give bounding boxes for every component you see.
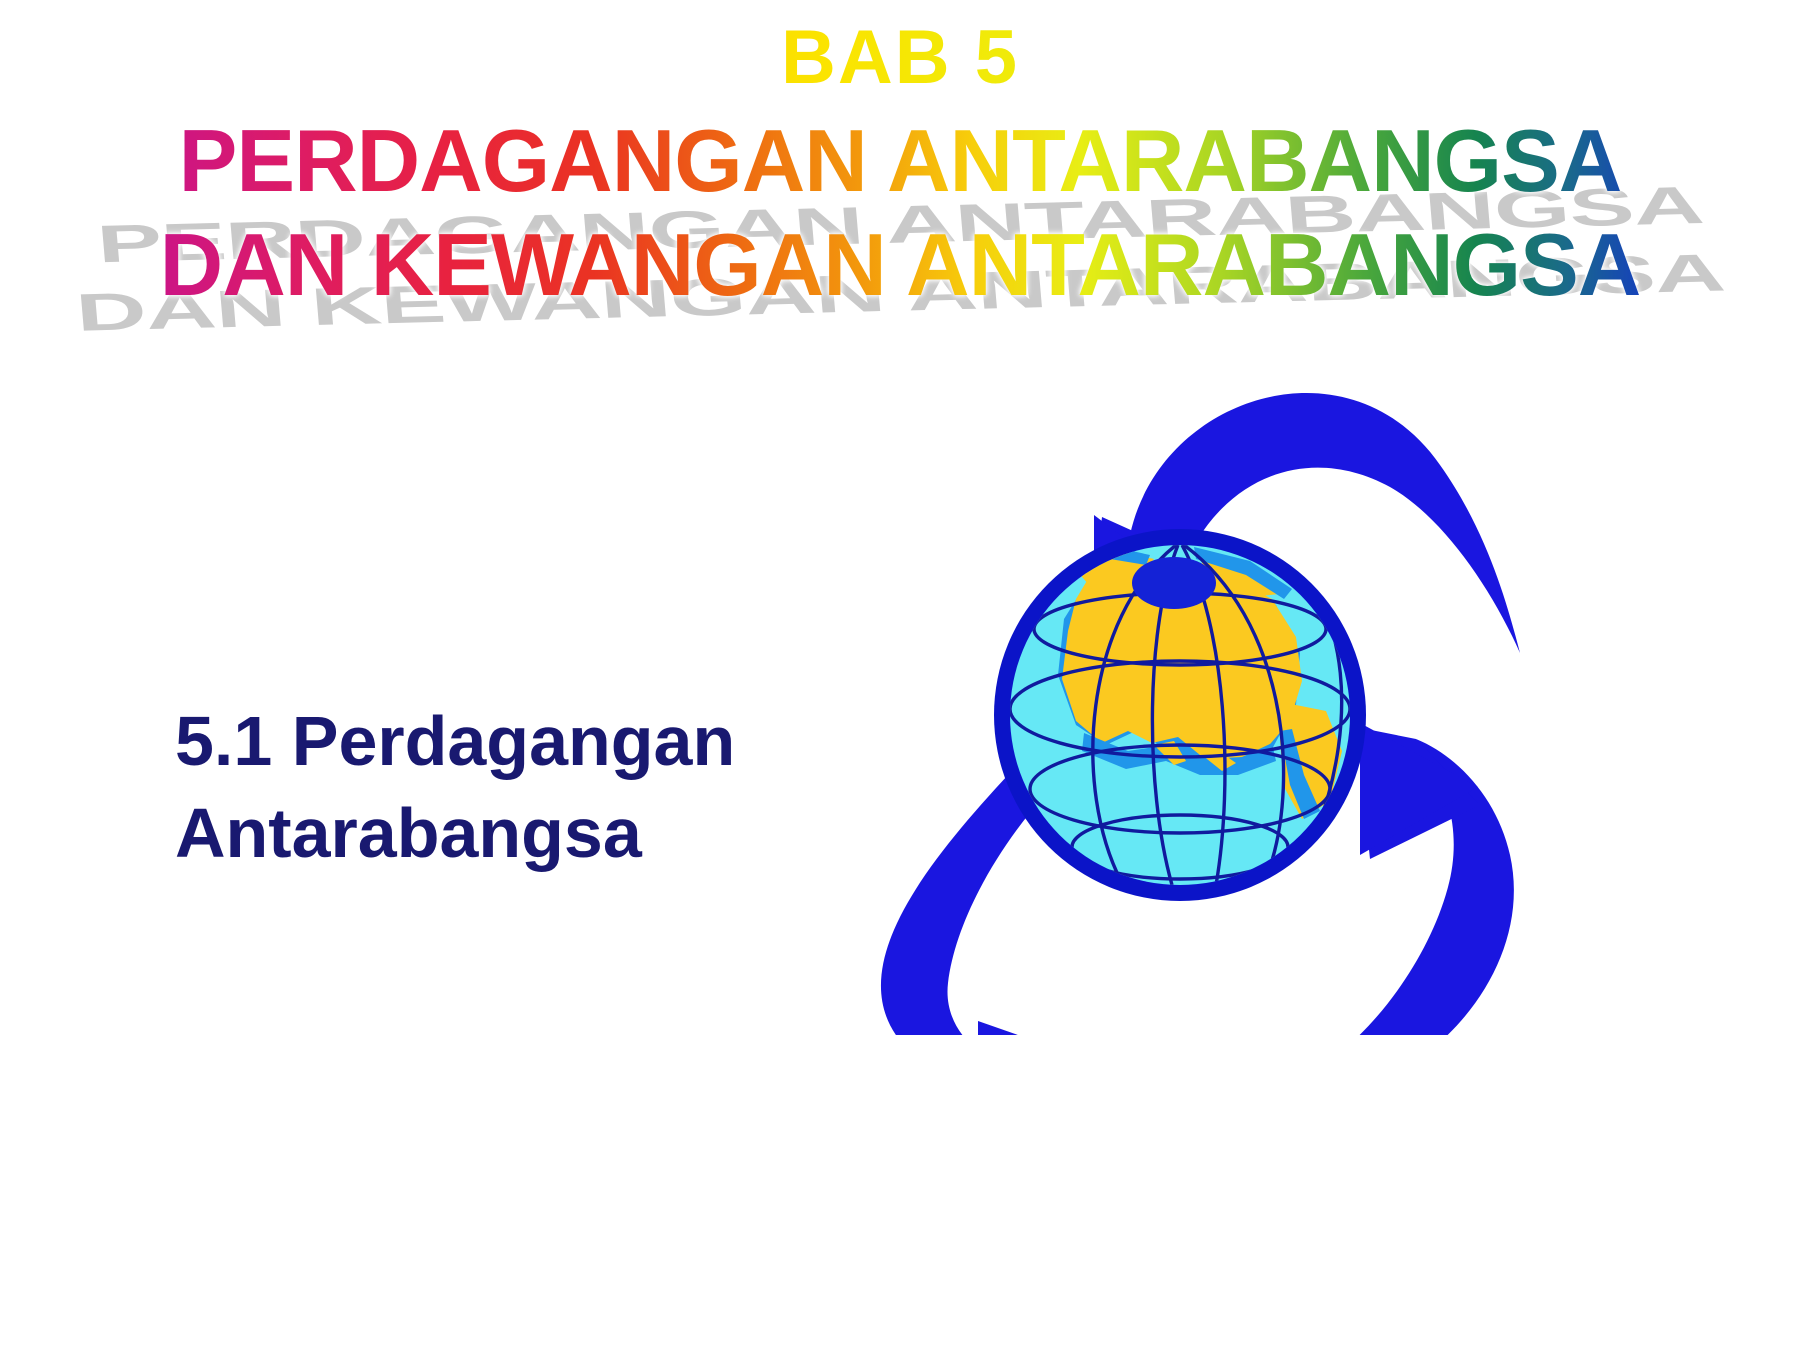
section-heading: 5.1 Perdagangan Antarabangsa (175, 695, 875, 880)
arrow-right (1342, 723, 1514, 1035)
globe-recycling-arrows-graphic (830, 335, 1530, 1035)
chapter-label: BAB 5 (0, 14, 1800, 101)
globe (994, 529, 1366, 901)
title-block: PERDAGANGAN ANTARABANGSA DAN KEWANGAN AN… (0, 0, 1800, 340)
title-line-2: DAN KEWANGAN ANTARABANGSA (0, 214, 1800, 316)
title-line-1: PERDAGANGAN ANTARABANGSA (0, 110, 1800, 212)
slide-canvas: PERDAGANGAN ANTARABANGSA DAN KEWANGAN AN… (0, 0, 1800, 1350)
globe-north-pole (1132, 557, 1216, 609)
